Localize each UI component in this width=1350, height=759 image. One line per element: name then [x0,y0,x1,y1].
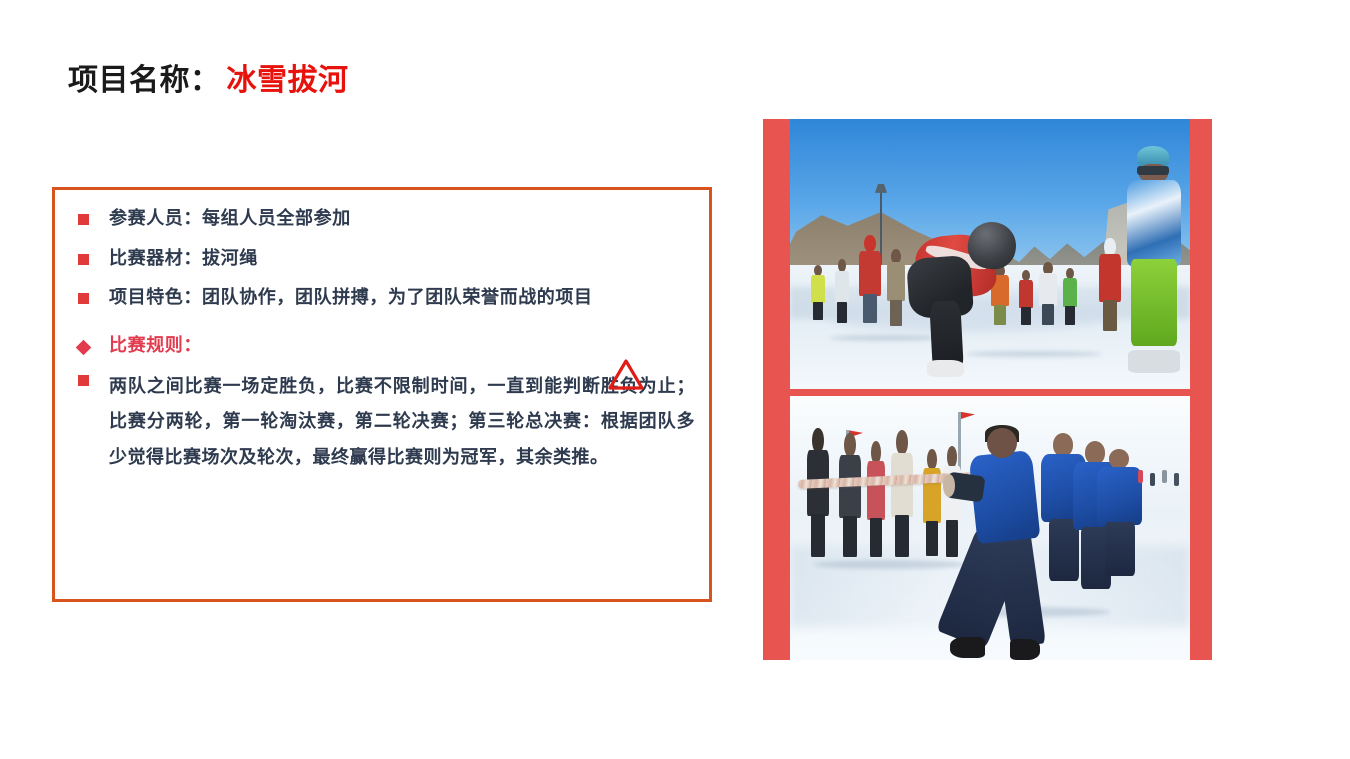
spectator-legs [870,518,882,557]
spectator-legs [863,294,877,323]
member-legs [1105,522,1134,575]
spectator-legs [811,514,825,557]
athlete-figure [910,216,1014,373]
spectator-head [871,441,881,464]
spectator [922,449,942,555]
red-square-bullet-icon [78,293,89,304]
content-box: 参赛人员：每组人员全部参加 比赛器材：拔河绳 项目特色：团队协作，团队拼搏，为了… [52,187,712,602]
rules-body-text: 两队之间比赛一场定胜负，比赛不限制时间，一直到能判断胜负为止；比赛分两轮，第一轮… [109,369,695,474]
spectator-body [835,271,849,303]
spectator-head [838,259,846,271]
spectator [1038,262,1058,324]
spectator-body [1019,280,1033,308]
puller-shoe [1010,639,1040,660]
bullet-text-participants: 参赛人员：每组人员全部参加 [109,208,351,230]
puller-head [987,428,1017,458]
spectator [806,428,830,555]
list-item: 参赛人员：每组人员全部参加 [69,208,695,230]
red-diamond-bullet-icon [76,340,92,356]
content-box-inner: 参赛人员：每组人员全部参加 比赛器材：拔河绳 项目特色：团队协作，团队拼搏，为了… [55,190,709,485]
skier-boots [1128,350,1179,373]
spectator [858,235,882,321]
skier-goggles [1137,166,1169,175]
tug-team-member [1094,449,1146,576]
spectator [1018,270,1034,324]
spectator-head [814,265,822,276]
spectator [1062,268,1078,325]
page-title-label: 项目名称： [68,64,221,97]
spectator-head [844,433,856,457]
spectator-legs [837,302,847,323]
spectator [834,259,850,321]
list-item: 项目特色：团队协作，团队拼搏，为了团队荣誉而战的项目 [69,287,695,309]
photo-panel [763,119,1212,660]
spectator-legs [890,300,902,326]
spectator-legs [1103,300,1117,331]
bullet-text-features: 项目特色：团队协作，团队拼搏，为了团队荣誉而战的项目 [109,287,593,309]
rules-heading-text: 比赛规则： [109,335,202,357]
spectator [866,441,886,555]
red-square-bullet-icon [78,254,89,265]
spectator-legs [1065,306,1075,325]
spectator [890,430,914,554]
page-title-value: 冰雪拔河 [227,64,349,97]
spectator-legs [1021,307,1031,325]
photo-bottom-scene [790,396,1190,660]
spectator-body [811,275,825,303]
spectator-legs [843,516,857,557]
skier-figure [1122,146,1186,373]
red-square-bullet-icon [78,214,89,225]
spectator [886,249,906,325]
spectator-body [1063,278,1077,307]
athlete-boot [927,360,964,377]
spectator-body [859,251,880,296]
distant-person [1162,470,1167,483]
spectator-legs [926,521,938,557]
skier-pants [1131,259,1177,345]
spectator-head [812,428,824,453]
member-blue-vest [1097,467,1142,525]
spectator [810,265,826,319]
spectator-head [896,430,908,455]
page-title: 项目名称：冰雪拔河 [68,55,349,99]
spectator-body [1099,254,1120,302]
distant-person [1150,473,1155,486]
distant-person [1174,473,1179,486]
snow-shadow [814,560,966,569]
puller-shoe [950,637,985,658]
spectator-legs [813,302,823,320]
photo-ice-snow-event-top [790,119,1190,389]
spectator [838,433,862,554]
spectator [1098,238,1122,330]
red-square-bullet-icon [78,375,89,386]
skier-jacket [1127,180,1181,266]
spectator-head [927,449,937,470]
spectator-body [887,262,905,301]
spectator-legs [946,520,958,557]
photo-top-scene [790,119,1190,389]
spectator-body [867,461,885,520]
spectator [942,446,962,554]
photo-tug-of-war-bottom [790,396,1190,660]
spectator-head [864,235,876,252]
spectator-head [947,446,957,468]
rules-heading: 比赛规则： [69,335,695,357]
puller-front-leg [995,528,1046,648]
tug-main-puller [966,428,1054,660]
list-item: 比赛器材：拔河绳 [69,248,695,270]
spectator-body [891,453,912,518]
spectator-legs [895,515,909,557]
spectator-body [1039,273,1057,305]
rules-body: 两队之间比赛一场定胜负，比赛不限制时间，一直到能判断胜负为止；比赛分两轮，第一轮… [69,369,695,474]
spectator-legs [1042,304,1054,325]
bullet-text-equipment: 比赛器材：拔河绳 [109,248,258,270]
distant-person [1138,470,1143,483]
